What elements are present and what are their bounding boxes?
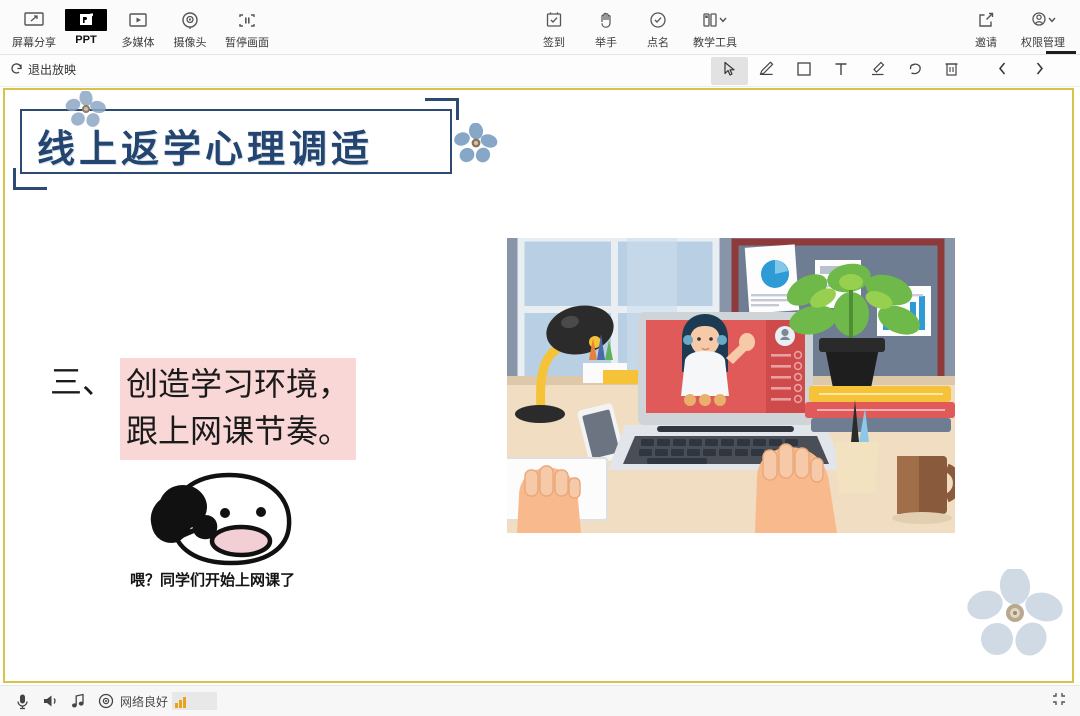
text-t-icon (833, 61, 849, 82)
toolbar-left-group: 屏幕分享 PPT (8, 4, 278, 51)
roll-call-button[interactable]: 点名 (632, 4, 684, 51)
record-icon[interactable] (92, 687, 120, 715)
teaching-tools-icon (701, 9, 729, 31)
pen-icon (758, 60, 775, 82)
multimedia-button[interactable]: 多媒体 (112, 4, 164, 51)
presentation-control-row: 退出放映 (0, 55, 1080, 87)
music-note-icon[interactable] (64, 687, 92, 715)
trash-icon (944, 61, 959, 82)
signal-bar-3 (183, 697, 186, 708)
checkin-label: 签到 (543, 34, 565, 50)
invite-icon (977, 9, 995, 31)
permission-button[interactable]: 权限管理 (1012, 4, 1074, 51)
top-toolbar: 屏幕分享 PPT (0, 0, 1080, 55)
screen-share-button[interactable]: 屏幕分享 (8, 4, 60, 51)
eraser-tool-button[interactable] (859, 57, 896, 85)
classroom-presentation-window: 屏幕分享 PPT (0, 0, 1080, 716)
exit-present-icon (10, 62, 23, 78)
toolbar-right-group: 邀请 权限管理 (960, 4, 1074, 51)
slide-content: 线上返学心理调适 (5, 90, 1072, 681)
ppt-button[interactable]: PPT (60, 4, 112, 51)
body-text-block: 三、 创造学习环境， 跟上网课节奏。 (50, 358, 356, 460)
microphone-icon[interactable] (8, 687, 36, 715)
pause-frame-icon (237, 9, 257, 31)
invite-button[interactable]: 邀请 (960, 4, 1012, 51)
window-control-line (1046, 51, 1076, 54)
next-slide-button[interactable] (1021, 57, 1058, 85)
teaching-tools-label: 教学工具 (693, 34, 737, 50)
multimedia-icon (128, 9, 148, 31)
cursor-icon (722, 61, 737, 82)
square-icon (796, 61, 812, 82)
exit-presentation-button[interactable]: 退出放映 (10, 61, 76, 78)
online-class-illustration (507, 238, 955, 533)
permission-label: 权限管理 (1021, 34, 1065, 50)
multimedia-label: 多媒体 (122, 34, 155, 50)
body-highlight: 创造学习环境， 跟上网课节奏。 (120, 358, 356, 460)
camera-label: 摄像头 (174, 34, 207, 50)
raise-hand-label: 举手 (595, 34, 617, 50)
title-corner-top-right (425, 98, 459, 120)
ppt-label: PPT (75, 34, 96, 46)
camera-button[interactable]: 摄像头 (164, 4, 216, 51)
permission-icon (1028, 9, 1058, 31)
teaching-tools-button[interactable]: 教学工具 (684, 4, 746, 51)
prev-slide-icon (996, 61, 1009, 81)
camera-icon (180, 9, 200, 31)
pen-tool-button[interactable] (748, 57, 785, 85)
checkin-icon (545, 9, 563, 31)
signal-bar-2 (179, 700, 182, 708)
speaker-icon[interactable] (36, 687, 64, 715)
screen-share-icon (24, 9, 44, 31)
raise-hand-icon (597, 9, 615, 31)
shrink-fullscreen-icon (1051, 691, 1067, 712)
signal-bar-1 (175, 703, 178, 708)
annotation-toolbar (711, 57, 1058, 85)
roll-call-label: 点名 (647, 34, 669, 50)
network-signal-indicator (172, 692, 217, 710)
undo-tool-button[interactable] (896, 57, 933, 85)
ppt-icon (65, 9, 107, 31)
cursor-tool-button[interactable] (711, 57, 748, 85)
body-prefix: 三、 (50, 358, 114, 406)
toolbar-center-group: 签到 举手 点名 (528, 4, 746, 51)
body-line-2: 跟上网课节奏。 (126, 408, 350, 455)
shrink-fullscreen-button[interactable] (1046, 688, 1072, 714)
checkin-button[interactable]: 签到 (528, 4, 580, 51)
meme-image: 喂？同学们开始上网课了 (125, 467, 332, 617)
text-tool-button[interactable] (822, 57, 859, 85)
delete-tool-button[interactable] (933, 57, 970, 85)
raise-hand-button[interactable]: 举手 (580, 4, 632, 51)
status-icon-group (8, 687, 120, 715)
next-slide-icon (1033, 61, 1046, 81)
network-status: 网络良好 (120, 692, 217, 710)
flower-decoration-bottom-right (967, 569, 1063, 661)
eraser-icon (869, 60, 886, 82)
prev-slide-button[interactable] (984, 57, 1021, 85)
shape-tool-button[interactable] (785, 57, 822, 85)
meme-caption: 喂？同学们开始上网课了 (130, 571, 330, 591)
exit-presentation-label: 退出放映 (28, 61, 76, 78)
status-bar: 网络良好 (0, 685, 1080, 716)
flower-decoration-title-right (454, 123, 498, 165)
roll-call-icon (649, 9, 667, 31)
invite-label: 邀请 (975, 34, 997, 50)
flower-decoration-top-left (65, 91, 107, 129)
network-status-label: 网络良好 (120, 693, 168, 710)
body-line-1: 创造学习环境， (126, 361, 350, 408)
pause-frame-button[interactable]: 暂停画面 (216, 4, 278, 51)
screen-share-label: 屏幕分享 (12, 34, 56, 50)
slide-canvas[interactable]: 线上返学心理调适 (3, 88, 1074, 683)
pause-frame-label: 暂停画面 (225, 34, 269, 50)
undo-icon (907, 61, 923, 82)
